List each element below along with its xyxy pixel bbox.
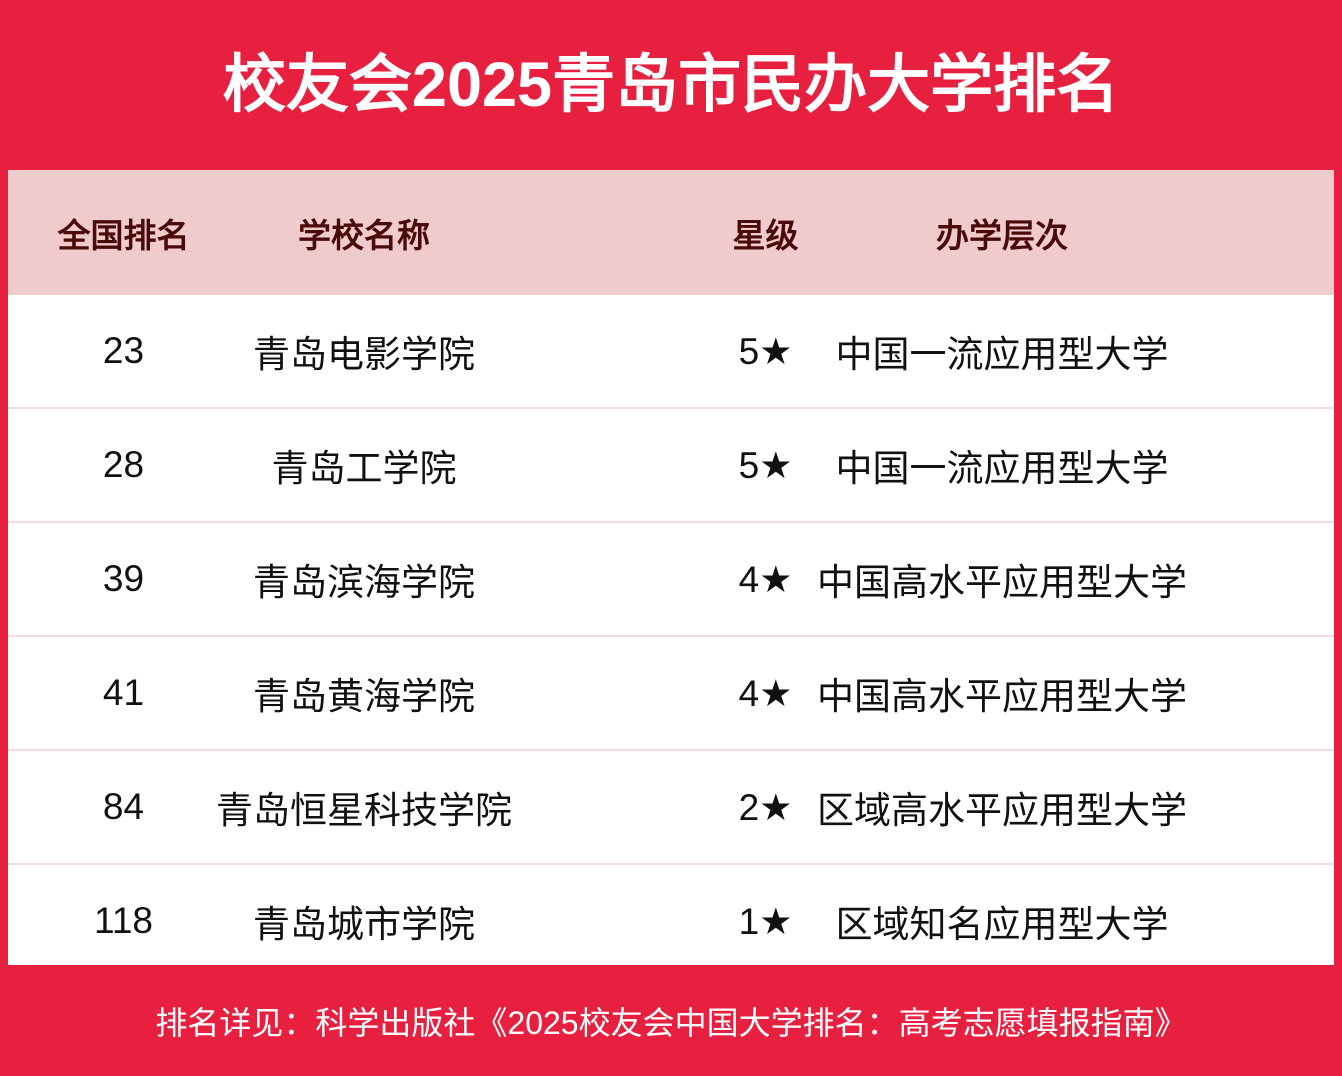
cell-name: 青岛恒星科技学院 <box>239 751 489 863</box>
column-header-level: 办学层次 <box>887 170 1117 295</box>
cell-rank: 28 <box>8 409 239 521</box>
cell-rank: 118 <box>8 865 239 977</box>
column-header-name: 学校名称 <box>239 170 489 295</box>
cell-level: 区域高水平应用型大学 <box>887 751 1117 863</box>
ranking-poster: 校友会2025青岛市民办大学排名 全国排名 学校名称 星级 办学层次 23 青岛… <box>0 0 1342 1076</box>
cell-name: 青岛黄海学院 <box>239 637 489 749</box>
table-row: 28 青岛工学院 5★ 中国一流应用型大学 <box>8 407 1334 521</box>
table-row: 84 青岛恒星科技学院 2★ 区域高水平应用型大学 <box>8 749 1334 863</box>
cell-level: 中国高水平应用型大学 <box>887 523 1117 635</box>
cell-level: 中国一流应用型大学 <box>887 409 1117 521</box>
table-row: 39 青岛滨海学院 4★ 中国高水平应用型大学 <box>8 521 1334 635</box>
cell-rank: 39 <box>8 523 239 635</box>
ranking-table: 全国排名 学校名称 星级 办学层次 23 青岛电影学院 5★ 中国一流应用型大学… <box>8 170 1334 965</box>
table-row: 41 青岛黄海学院 4★ 中国高水平应用型大学 <box>8 635 1334 749</box>
column-header-star: 星级 <box>644 170 887 295</box>
cell-level: 区域知名应用型大学 <box>887 865 1117 977</box>
column-header-rank: 全国排名 <box>8 170 239 295</box>
table-row: 23 青岛电影学院 5★ 中国一流应用型大学 <box>8 295 1334 407</box>
cell-rank: 23 <box>8 295 239 407</box>
cell-name: 青岛城市学院 <box>239 865 489 977</box>
table-header-row: 全国排名 学校名称 星级 办学层次 <box>8 170 1334 295</box>
cell-level: 中国高水平应用型大学 <box>887 637 1117 749</box>
source-note: 排名详见：科学出版社《2025校友会中国大学排名：高考志愿填报指南》 <box>155 998 1186 1044</box>
cell-level: 中国一流应用型大学 <box>887 295 1117 407</box>
footer-band: 排名详见：科学出版社《2025校友会中国大学排名：高考志愿填报指南》 <box>0 965 1342 1076</box>
cell-name: 青岛电影学院 <box>239 295 489 407</box>
cell-name: 青岛滨海学院 <box>239 523 489 635</box>
cell-name: 青岛工学院 <box>239 409 489 521</box>
cell-rank: 41 <box>8 637 239 749</box>
poster-title-band: 校友会2025青岛市民办大学排名 <box>0 0 1342 170</box>
page-title: 校友会2025青岛市民办大学排名 <box>223 54 1119 117</box>
table-row: 118 青岛城市学院 1★ 区域知名应用型大学 <box>8 863 1334 977</box>
cell-rank: 84 <box>8 751 239 863</box>
